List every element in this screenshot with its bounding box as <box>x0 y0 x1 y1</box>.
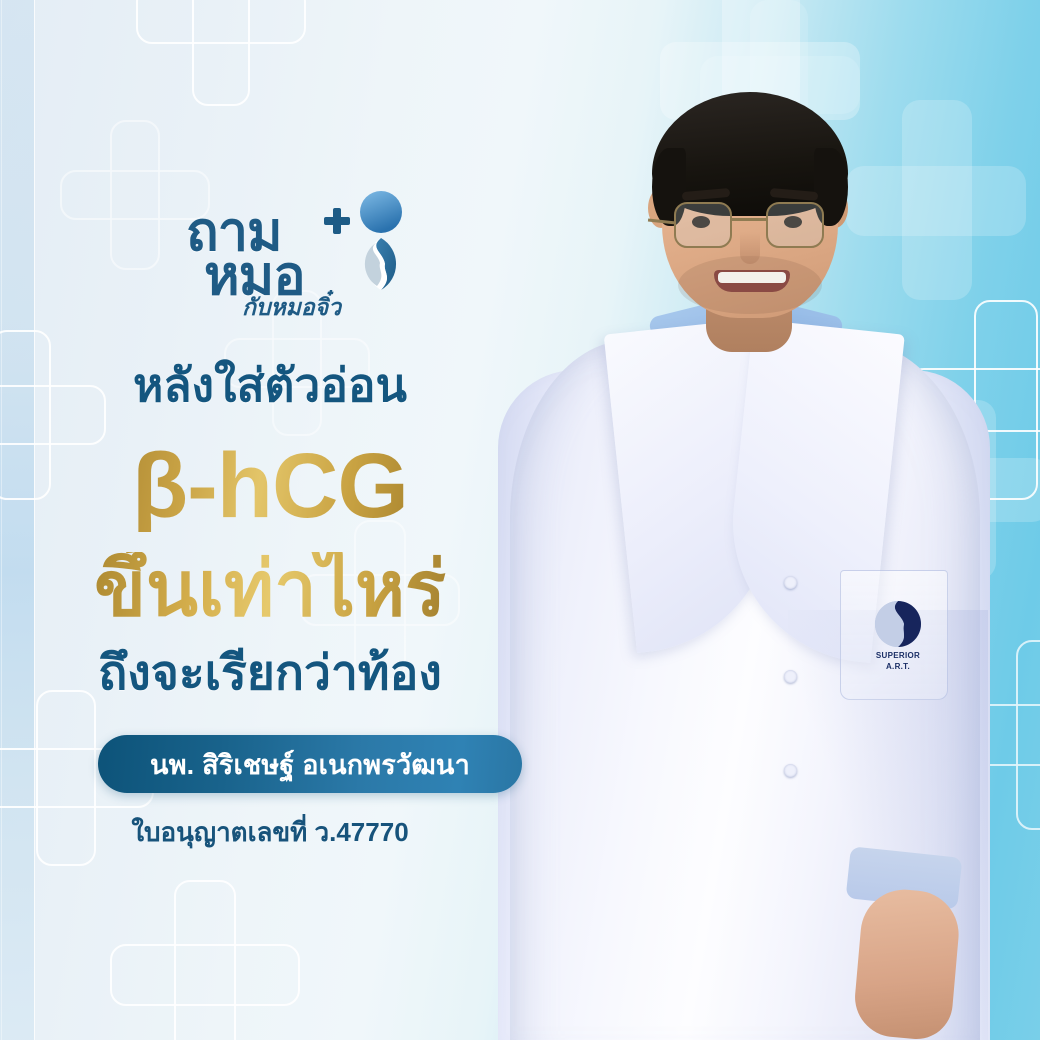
coat-button <box>784 576 797 589</box>
headline-line-3: ขึ้นเท่าไหร่ <box>0 552 540 628</box>
headline-line-1: หลังใส่ตัวอ่อน <box>0 362 540 408</box>
content-column: ถาม หมอ กับหมอจิ๋ว <box>0 0 540 1040</box>
nose <box>740 232 760 264</box>
license-number-text: ใบอนุญาตเลขที่ ว.47770 <box>0 812 540 853</box>
right-hand <box>852 886 963 1040</box>
doctor-name-badge: นพ. สิริเชษฐ์ อเนกพรวัฒนา <box>98 735 522 793</box>
coat-button <box>784 670 797 683</box>
promotional-poster: SUPERIOR A.R.T. ถาม หมอ กับหมอจิ๋ว <box>0 0 1040 1040</box>
superior-art-text: SUPERIOR A.R.T. <box>860 650 936 672</box>
teeth <box>718 272 786 283</box>
eyeglasses-bridge <box>732 218 766 221</box>
superior-art-logo: SUPERIOR A.R.T. <box>866 600 930 678</box>
logo-subtitle: กับหมอจิ๋ว <box>242 290 341 326</box>
eyeglasses-lens-left <box>674 202 732 248</box>
doctor-portrait-photo: SUPERIOR A.R.T. <box>470 70 1040 1040</box>
doctor-name-text: นพ. สิริเชษฐ์ อเนกพรวัฒนา <box>150 743 470 786</box>
headline-line-4: ถึงจะเรียกว่าท้อง <box>0 650 540 698</box>
headline-hcg: β-hCG <box>0 440 540 532</box>
tham-mor-logo: ถาม หมอ กับหมอจิ๋ว <box>186 190 416 325</box>
eyeglasses-lens-right <box>766 202 824 248</box>
person-avatar-icon <box>341 190 417 290</box>
coat-button <box>784 764 797 777</box>
mouth <box>714 270 790 292</box>
superior-art-mark-icon <box>874 600 922 648</box>
